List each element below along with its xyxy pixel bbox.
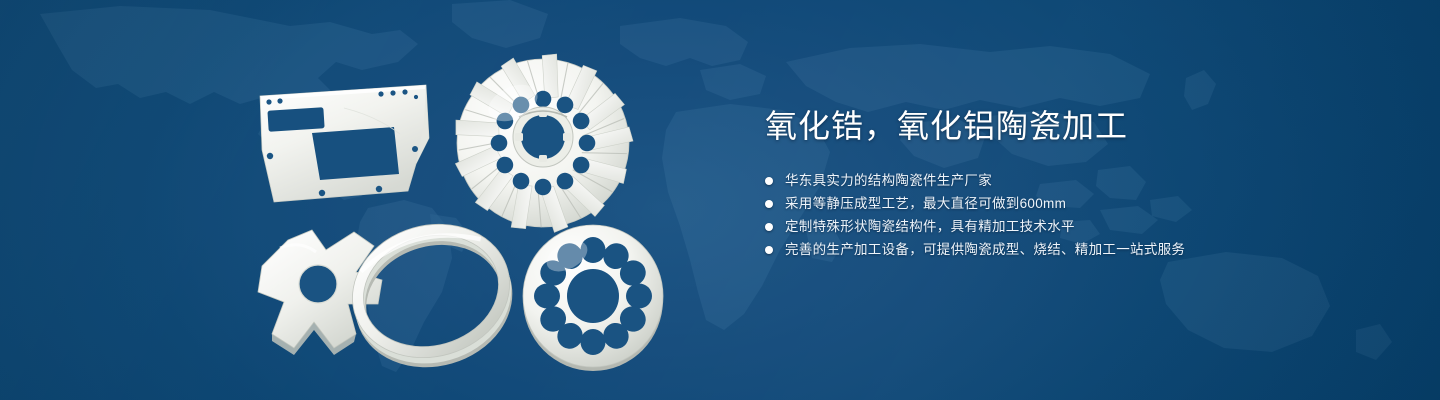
feature-text: 采用等静压成型工艺，最大直径可做到600mm [785,192,1066,215]
list-item: 采用等静压成型工艺，最大直径可做到600mm [765,192,1385,215]
banner-copy: 氧化锆，氧化铝陶瓷加工 华东具实力的结构陶瓷件生产厂家 采用等静压成型工艺，最大… [765,104,1385,261]
bullet-dot-icon [765,246,773,254]
feature-text: 华东具实力的结构陶瓷件生产厂家 [785,169,992,192]
feature-text: 完善的生产加工设备，可提供陶瓷成型、烧结、精加工一站式服务 [785,238,1185,261]
ceramic-ring-stack [340,218,530,370]
list-item: 华东具实力的结构陶瓷件生产厂家 [765,169,1385,192]
hero-banner: 氧化锆，氧化铝陶瓷加工 华东具实力的结构陶瓷件生产厂家 采用等静压成型工艺，最大… [0,0,1440,400]
banner-headline: 氧化锆，氧化铝陶瓷加工 [765,104,1385,148]
bullet-dot-icon [765,223,773,231]
bullet-dot-icon [765,200,773,208]
bullet-dot-icon [765,177,773,185]
ceramic-impeller-rotor [448,50,638,240]
ceramic-machined-plate [248,78,448,208]
ceramic-perforated-disc [518,222,668,374]
feature-list: 华东具实力的结构陶瓷件生产厂家 采用等静压成型工艺，最大直径可做到600mm 定… [765,169,1385,261]
list-item: 定制特殊形状陶瓷结构件，具有精加工技术水平 [765,215,1385,238]
feature-text: 定制特殊形状陶瓷结构件，具有精加工技术水平 [785,215,1075,238]
list-item: 完善的生产加工设备，可提供陶瓷成型、烧结、精加工一站式服务 [765,238,1385,261]
